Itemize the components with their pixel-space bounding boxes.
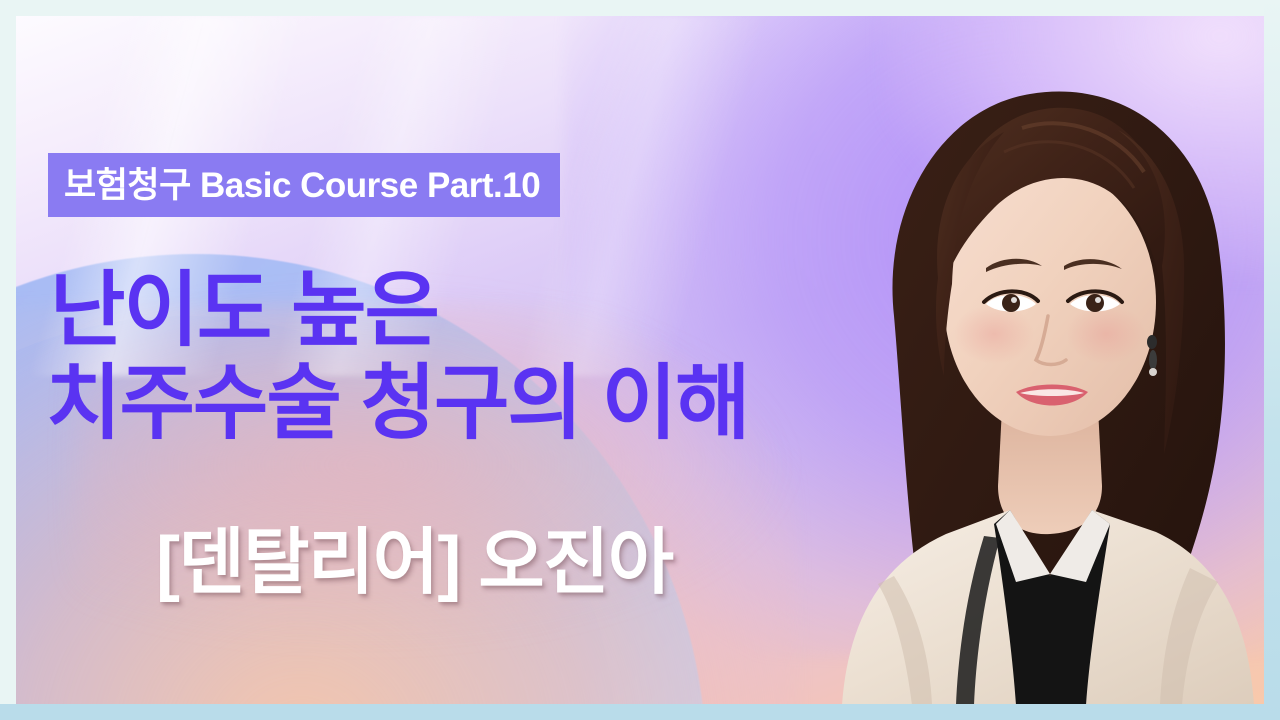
eye-glint-left bbox=[1011, 297, 1017, 303]
earring-bead bbox=[1149, 368, 1157, 376]
instructor-portrait bbox=[834, 16, 1264, 705]
course-badge-label: 보험청구 Basic Course Part.10 bbox=[64, 168, 540, 203]
course-badge[interactable]: 보험청구 Basic Course Part.10 bbox=[48, 153, 560, 217]
blush-left bbox=[954, 304, 1034, 364]
blush-right bbox=[1066, 304, 1146, 364]
frame-right-border bbox=[1264, 0, 1280, 720]
frame-left-border bbox=[0, 0, 16, 720]
eye-glint-right bbox=[1095, 297, 1101, 303]
earring-drop bbox=[1149, 350, 1157, 370]
thumbnail-canvas: 보험청구 Basic Course Part.10 난이도 높은 치주수술 청구… bbox=[16, 16, 1264, 705]
thumbnail-root: 보험청구 Basic Course Part.10 난이도 높은 치주수술 청구… bbox=[0, 0, 1280, 720]
frame-bottom-border bbox=[0, 704, 1280, 720]
iris-left bbox=[1002, 294, 1020, 312]
frame-top-border bbox=[0, 0, 1280, 16]
earring-stud bbox=[1147, 335, 1157, 349]
iris-right bbox=[1086, 294, 1104, 312]
